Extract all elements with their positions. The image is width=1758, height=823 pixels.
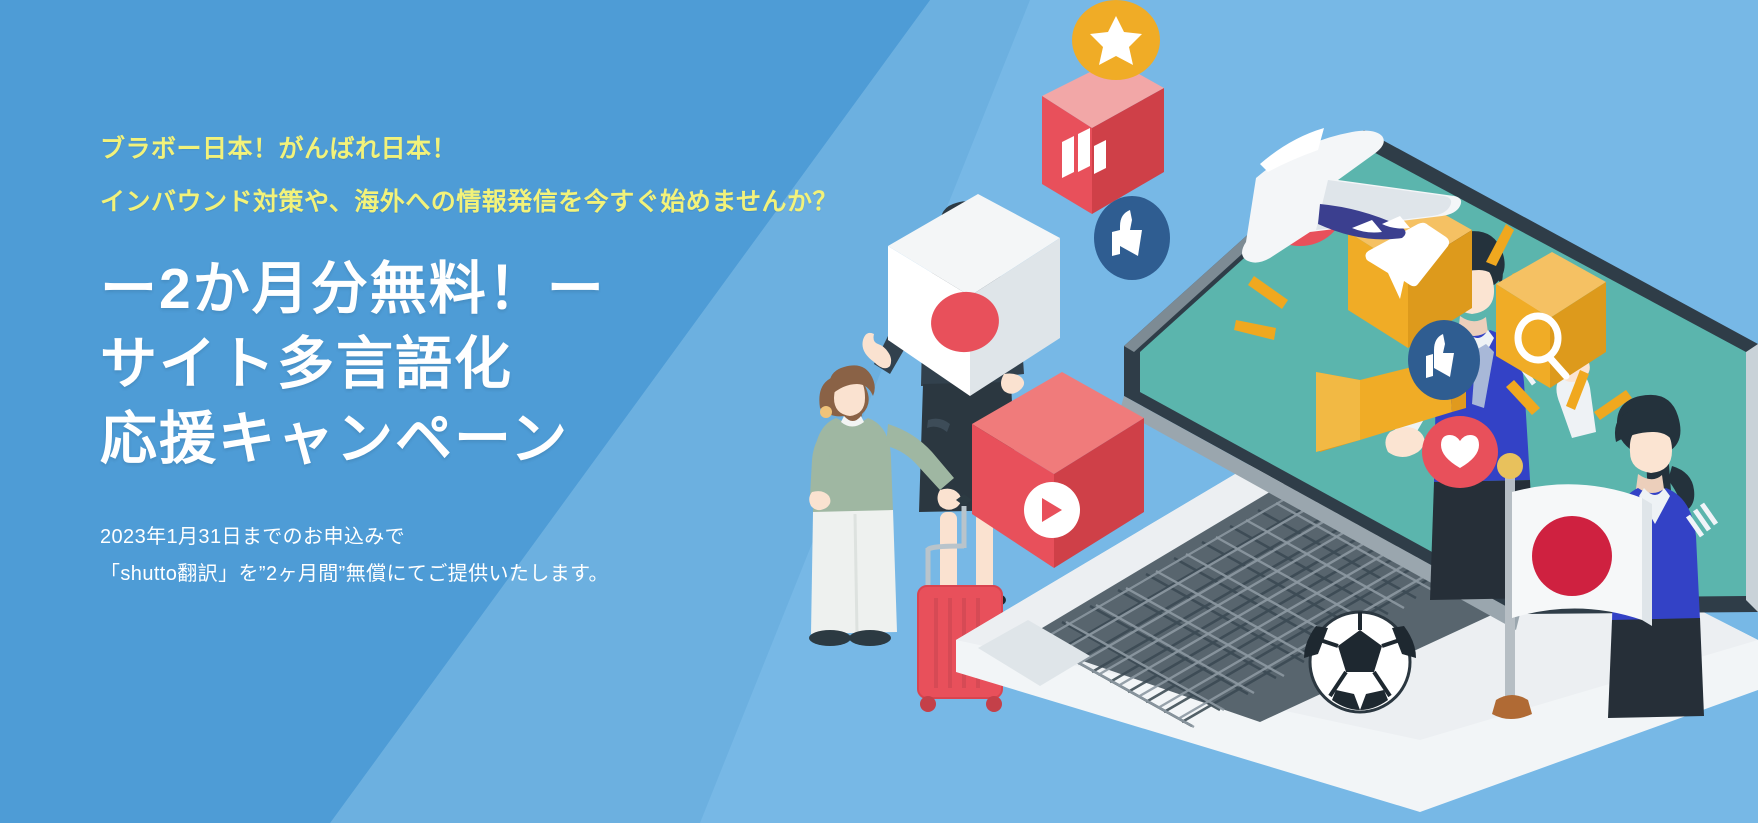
japan-flag-icon [888, 194, 1060, 396]
star-icon [1072, 0, 1160, 80]
thumbs-up-icon [1094, 196, 1170, 280]
hero-illustration [760, 0, 1758, 823]
thumbs-up-icon-secondary [1408, 320, 1480, 400]
bar-chart-icon [1042, 60, 1164, 214]
campaign-banner: ブラボー日本！がんばれ日本！ インバウンド対策や、海外への情報発信を今すぐ始めま… [0, 0, 1758, 823]
heart-icon-secondary [1422, 416, 1498, 488]
